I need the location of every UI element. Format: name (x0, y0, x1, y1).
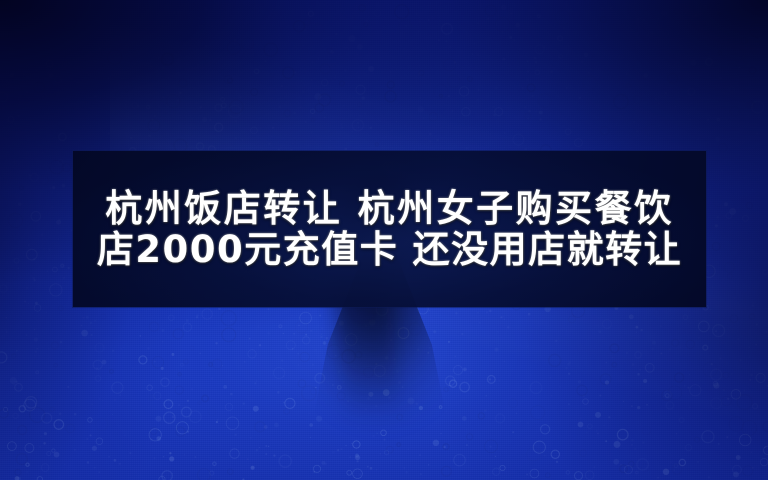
headline-line-1: 杭州饭店转让 杭州女子购买餐饮 (105, 190, 673, 227)
headline-line-2: 店2000元充值卡 还没用店就转让 (97, 231, 682, 268)
headline-banner: 杭州饭店转让 杭州女子购买餐饮 店2000元充值卡 还没用店就转让 (73, 151, 706, 307)
banner-image: 杭州饭店转让 杭州女子购买餐饮 店2000元充值卡 还没用店就转让 (0, 0, 768, 480)
headline-text-block: 杭州饭店转让 杭州女子购买餐饮 店2000元充值卡 还没用店就转让 (73, 151, 706, 307)
